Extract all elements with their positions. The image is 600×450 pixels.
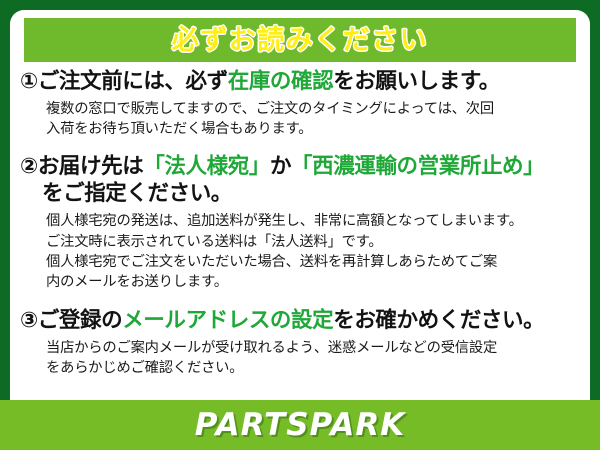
item-2-subtext-line-2: ご注文時に表示されている送料は「法人送料」です。 [46, 232, 582, 252]
item-1-heading-text-b: をお願いします。 [333, 69, 500, 94]
item-2-heading-text-a: お届け先は [38, 154, 144, 179]
brand-logo: PARTSPARK [195, 410, 406, 441]
notice-item-3: ③ご登録のメールアドレスの設定をお確かめください。 当店からのご案内メールが受け… [20, 307, 582, 379]
notice-card: 必ずお読みください ①ご注文前には、必ず在庫の確認をお願いします。 複数の窓口で… [0, 0, 600, 450]
item-3-heading-text-b: をお確かめください。 [333, 308, 544, 333]
header-band: 必ずお読みください [24, 18, 576, 62]
item-1-heading-accent: 在庫の確認 [228, 69, 334, 94]
item-2-heading-line-2: をご指定ください。 [20, 180, 582, 208]
item-2-subtext-line-1: 個人様宅宛の発送は、追加送料が発生し、非常に高額となってしまいます。 [46, 211, 582, 231]
item-1-heading-text-a: ご注文前には、必ず [38, 69, 228, 94]
notice-item-2: ②お届け先は「法人様宛」か「西濃運輸の営業所止め」 をご指定ください。 個人様宅… [20, 153, 582, 293]
item-1-marker: ① [20, 69, 38, 94]
item-2-heading-accent-2: 「西濃運輸の営業所止め」 [291, 154, 544, 179]
item-1-heading: ①ご注文前には、必ず在庫の確認をお願いします。 [20, 68, 582, 96]
item-2-subtext-line-4: 内のメールをお送りします。 [46, 272, 582, 292]
item-2-heading-text-mid: か [270, 154, 291, 179]
notice-panel: 必ずお読みください ①ご注文前には、必ず在庫の確認をお願いします。 複数の窓口で… [10, 10, 590, 442]
item-3-subtext-line-1: 当店からのご案内メールが受け取れるよう、迷惑メールなどの受信設定 [46, 338, 582, 358]
notice-item-1: ①ご注文前には、必ず在庫の確認をお願いします。 複数の窓口で販売してますので、ご… [20, 68, 582, 140]
item-1-subtext: 複数の窓口で販売してますので、ご注文のタイミングによっては、次回 入荷をお待ち頂… [20, 99, 582, 140]
item-1-subtext-line-2: 入荷をお待ち頂いただく場合もあります。 [46, 119, 582, 139]
item-3-subtext-line-2: をあらかじめご確認ください。 [46, 358, 582, 378]
item-1-subtext-line-1: 複数の窓口で販売してますので、ご注文のタイミングによっては、次回 [46, 99, 582, 119]
item-2-heading-line-1: ②お届け先は「法人様宛」か「西濃運輸の営業所止め」 [20, 153, 582, 181]
item-3-marker: ③ [20, 308, 38, 333]
item-3-subtext: 当店からのご案内メールが受け取れるよう、迷惑メールなどの受信設定 をあらかじめご… [20, 338, 582, 379]
notice-content: ①ご注文前には、必ず在庫の確認をお願いします。 複数の窓口で販売してますので、ご… [10, 66, 590, 380]
page-title: 必ずお読みください [172, 27, 429, 54]
item-3-heading: ③ご登録のメールアドレスの設定をお確かめください。 [20, 307, 582, 335]
item-2-marker: ② [20, 154, 38, 179]
item-2-heading-accent-1: 「法人様宛」 [143, 154, 270, 179]
item-3-heading-text-a: ご登録の [38, 308, 122, 333]
item-2-subtext: 個人様宅宛の発送は、追加送料が発生し、非常に高額となってしまいます。 ご注文時に… [20, 211, 582, 292]
item-2-subtext-line-3: 個人様宅宛でご注文をいただいた場合、送料を再計算しあらためてご案 [46, 252, 582, 272]
footer-band: PARTSPARK [0, 400, 600, 450]
item-3-heading-accent: メールアドレスの設定 [122, 308, 333, 333]
